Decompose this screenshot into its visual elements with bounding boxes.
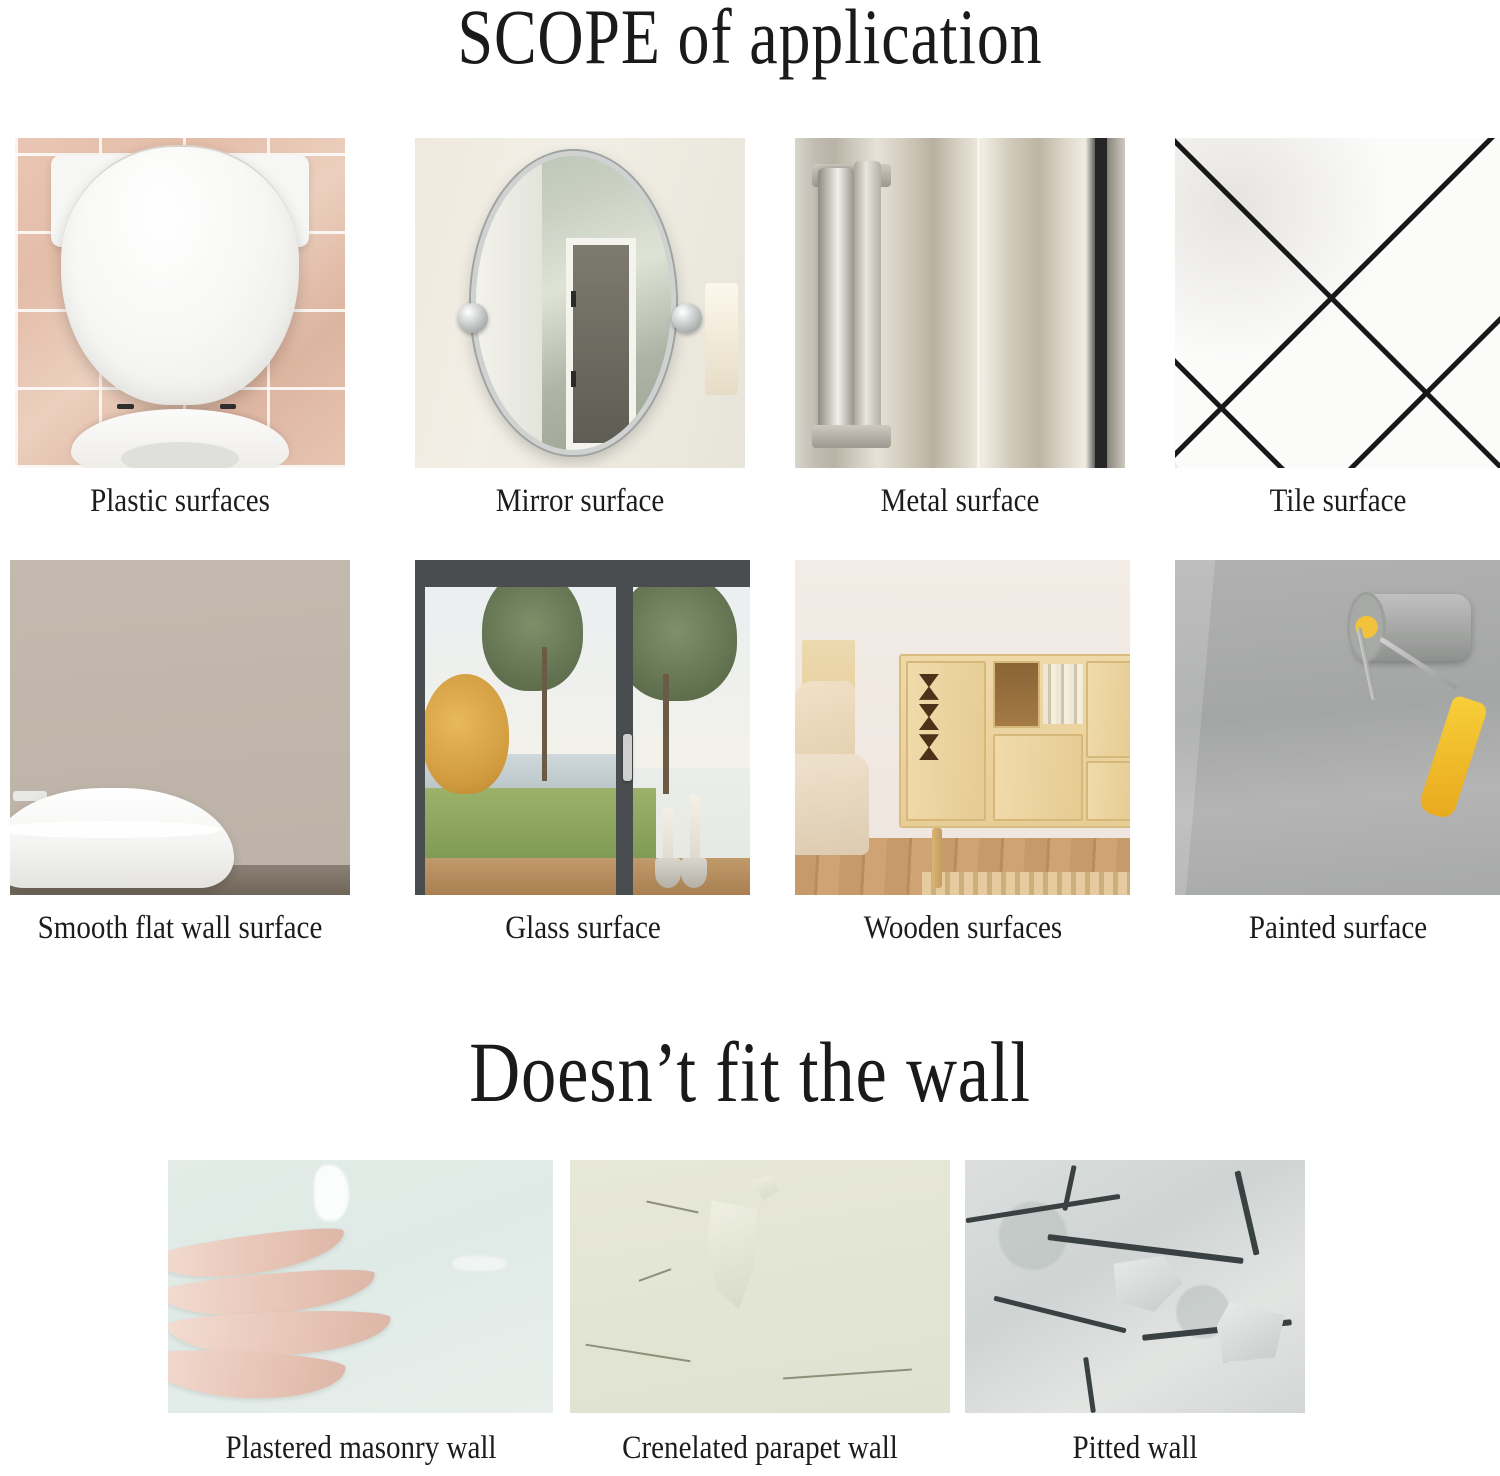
finger-4 — [168, 1347, 346, 1403]
not-fit-caption-plastered: Plastered masonry wall — [225, 1430, 496, 1467]
tree-pine-right — [616, 573, 737, 700]
cracked-pitted-gray-wall-photo — [965, 1160, 1305, 1413]
oak-sideboard-bedroom-photo — [795, 560, 1130, 895]
fridge-handle-primary — [818, 168, 854, 439]
toilet-on-tiled-wall-photo — [15, 138, 345, 468]
cabinet-door-right-lower — [1086, 761, 1130, 821]
not-fit-caption-pitted: Pitted wall — [1072, 1430, 1197, 1467]
scope-caption-tile: Tile surface — [1269, 483, 1406, 520]
door-frame-header — [415, 560, 750, 587]
paint-roller-handle — [1417, 695, 1488, 821]
chalk-residue-top — [314, 1165, 349, 1221]
door-frame-left — [415, 560, 425, 895]
crack-upper-left — [966, 1193, 1121, 1222]
infographic-page: SCOPE of application Plastic surfaces — [0, 0, 1500, 1476]
grout-line-2 — [1175, 318, 1500, 468]
scope-item-mirror: Mirror surface — [415, 138, 745, 528]
tree-pine-upper-left — [482, 570, 583, 691]
surface-crack-lower-left — [586, 1344, 691, 1363]
mirror-reflection-wall — [476, 156, 542, 450]
fingers-on-chalky-mint-wall-photo — [168, 1160, 553, 1413]
scope-caption-glass: Glass surface — [505, 910, 661, 947]
sliding-glass-door-autumn-view-photo — [415, 560, 750, 895]
mirror-oval-frame — [471, 151, 676, 455]
door-gap-dark — [1095, 138, 1107, 468]
scope-item-wooden: Wooden surfaces — [795, 560, 1130, 960]
scope-item-metal: Metal surface — [795, 138, 1125, 528]
chalk-residue-right — [453, 1256, 507, 1271]
fridge-handle-secondary — [854, 161, 880, 445]
cabinet-door-right-upper — [1086, 661, 1130, 758]
grout-line-1 — [1175, 138, 1500, 468]
surface-crack-lower-right — [783, 1368, 912, 1379]
not-fit-caption-crenelated: Crenelated parapet wall — [622, 1430, 898, 1467]
scope-caption-metal: Metal surface — [881, 483, 1040, 520]
cabinet-leg — [932, 828, 941, 888]
cabinet-books — [1043, 664, 1083, 724]
scope-item-painted: Painted surface — [1175, 560, 1500, 960]
scope-caption-wooden: Wooden surfaces — [863, 910, 1061, 947]
page-title-not-fit: Doesn’t fit the wall — [135, 1022, 1365, 1122]
toilet-hinge-right — [220, 404, 237, 409]
paint-roller-end-cap — [1347, 592, 1386, 662]
surface-crack-upper-left — [646, 1200, 698, 1213]
candle-holder-left — [655, 858, 681, 888]
mirror-reflection-doorknob-upper — [571, 291, 576, 307]
loose-chunk-center — [1108, 1256, 1183, 1312]
mirror-pivot-right — [672, 303, 702, 333]
crack-lower-left — [994, 1295, 1127, 1333]
toilet-hinge-left — [117, 404, 134, 409]
paint-flake-large — [707, 1200, 760, 1311]
scope-item-glass: Glass surface — [415, 560, 750, 960]
scope-caption-painted: Painted surface — [1248, 910, 1426, 947]
tree-trunk-center — [542, 647, 547, 781]
not-fit-item-plastered: Plastered masonry wall — [168, 1160, 553, 1460]
cabinet-open-shelf — [993, 661, 1040, 728]
wall-sconce — [705, 283, 738, 395]
door-handle — [623, 734, 632, 781]
scope-item-smooth-wall: Smooth flat wall surface — [10, 560, 350, 960]
scope-caption-smooth-wall: Smooth flat wall surface — [38, 910, 323, 947]
grout-line-4 — [1175, 284, 1500, 468]
mirror-reflection-doorknob-lower — [571, 371, 576, 387]
cabinet-drawer-center — [993, 734, 1083, 821]
crack-right-vertical — [1234, 1171, 1259, 1256]
scope-caption-mirror: Mirror surface — [496, 483, 665, 520]
door-frame-center-stile — [616, 560, 633, 895]
page-title-scope: SCOPE of application — [135, 0, 1365, 82]
bathtub — [10, 788, 234, 889]
crack-bottom-vertical — [1084, 1357, 1097, 1413]
scope-item-plastic: Plastic surfaces — [15, 138, 345, 528]
handle-bracket-bottom — [812, 425, 891, 448]
loose-chunk-right — [1217, 1302, 1285, 1363]
mirror-reflection-door — [566, 238, 636, 449]
not-fit-item-crenelated: Crenelated parapet wall — [570, 1160, 950, 1460]
gray-painted-wall-with-roller-photo — [1175, 560, 1500, 895]
paint-flake-small-top — [752, 1175, 779, 1200]
bed-blanket — [795, 754, 869, 855]
stainless-steel-fridge-door-photo — [795, 138, 1125, 468]
cabinet-door-left — [906, 661, 986, 822]
mirror-pivot-left — [458, 303, 488, 333]
toilet-lid — [61, 145, 299, 406]
tree-trunk-right — [663, 674, 669, 795]
flaking-sage-parapet-wall-photo — [570, 1160, 950, 1413]
scope-caption-plastic: Plastic surfaces — [90, 483, 270, 520]
not-fit-item-pitted: Pitted wall — [965, 1160, 1305, 1460]
white-marble-diagonal-tile-photo — [1175, 138, 1500, 468]
panel-seam-center — [977, 138, 980, 468]
scope-item-tile: Tile surface — [1175, 138, 1500, 528]
oval-pivot-mirror-photo — [415, 138, 745, 468]
taupe-wall-with-bathtub-photo — [10, 560, 350, 895]
surface-crack-mid — [639, 1268, 672, 1282]
tree-autumn-left — [422, 674, 509, 795]
woven-rug — [922, 872, 1130, 895]
